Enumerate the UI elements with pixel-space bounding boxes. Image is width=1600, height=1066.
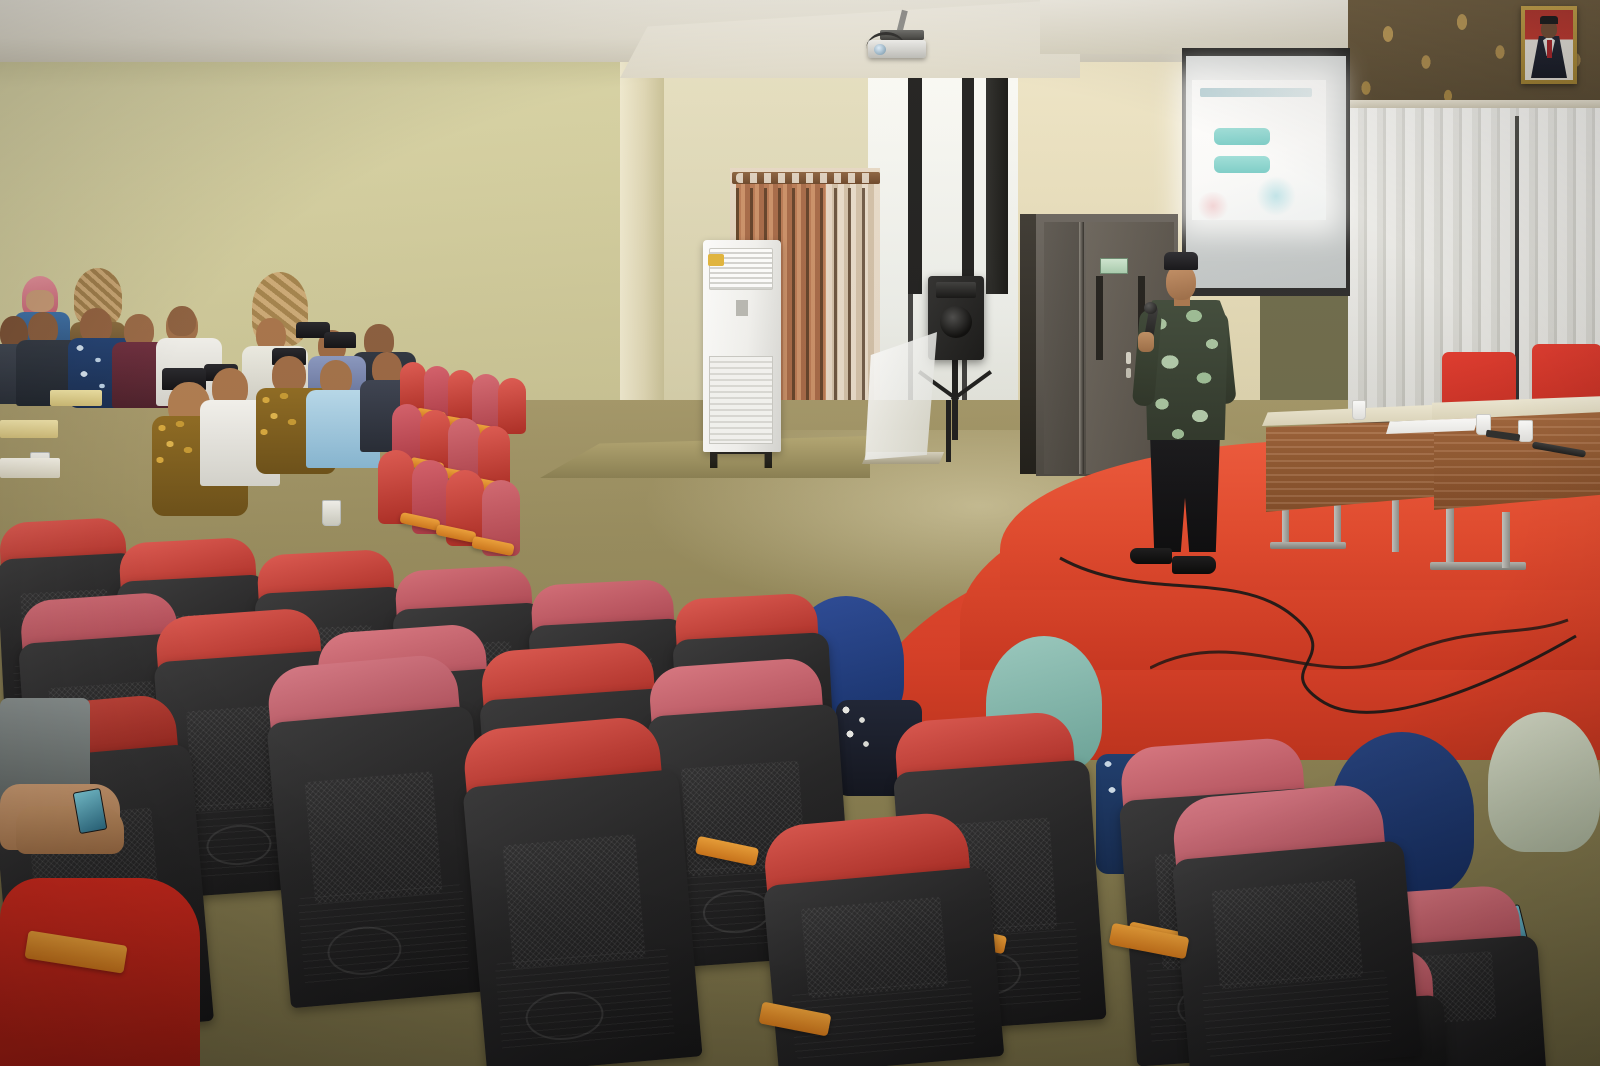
auditorium-photo: green exit sign [0, 0, 1600, 1066]
portrait-tie [1547, 40, 1552, 58]
slide-button-2 [1214, 156, 1270, 173]
seat-row3-s3[interactable] [457, 713, 702, 1066]
slide-button-2-label [1214, 156, 1270, 173]
microphone-head-icon [1144, 302, 1157, 314]
exit-sign-icon: green exit sign [1100, 258, 1128, 274]
exit-door-leaf-left[interactable] [1044, 222, 1082, 474]
table-foot-b [1430, 562, 1526, 570]
table-leg-b1 [1392, 500, 1399, 552]
ac-control-panel [736, 300, 748, 316]
audience-face-1 [26, 290, 54, 312]
presenter-shoe-left [1130, 548, 1172, 564]
audience-notebook-2 [50, 390, 102, 406]
door-vision-slot-left [1096, 276, 1103, 360]
table-foot-a [1270, 542, 1346, 549]
portrait-peci-icon [1540, 16, 1558, 24]
structural-pillar-3 [986, 56, 1008, 294]
audience-hijab-mint [1488, 712, 1600, 852]
table-cup-1 [1352, 400, 1366, 420]
audience-peci-2 [324, 332, 356, 348]
presenter-shoe-right [1172, 556, 1216, 574]
speaker-cone-icon [940, 306, 972, 338]
structural-pillar-1 [908, 44, 922, 294]
table-leg-b2 [1446, 508, 1454, 564]
audience-head-a8 [168, 306, 196, 336]
audience-notebook-1 [0, 458, 60, 478]
presenter-hand [1138, 332, 1154, 352]
floor-cable-secondary [1150, 598, 1570, 748]
speaker-tripod-leg-center [946, 400, 951, 462]
speaker-horn-icon [936, 282, 976, 298]
foreground-hand-right [16, 806, 124, 854]
table-leg-b3 [1502, 512, 1510, 568]
slide-graphic-pink [1196, 192, 1230, 220]
presenter-peci-icon [1164, 252, 1198, 270]
table-cup-3 [1518, 420, 1533, 442]
curtain-rings [736, 173, 876, 183]
audience-water-cup-2 [322, 500, 341, 526]
ac-label-tag [708, 254, 724, 266]
audience-notebook-3 [0, 420, 58, 438]
exit-door-edge [1079, 222, 1084, 474]
door-handle[interactable] [1126, 352, 1131, 364]
projector-lens-icon [874, 44, 886, 55]
seat-row3-s2[interactable] [262, 652, 497, 1009]
slide-title-bar [1200, 88, 1312, 97]
speaker-stand-pole [952, 358, 958, 440]
ac-bottom-grille-icon [709, 356, 773, 444]
seat-row-mid-far[interactable] [378, 450, 578, 580]
structural-pillar-2 [962, 44, 974, 294]
slide-graphic-teal [1256, 176, 1296, 216]
slide-button-1-label [1214, 128, 1270, 145]
slide-button-1 [1214, 128, 1270, 145]
foreground-seat-red-pad [0, 878, 200, 1066]
door-lock[interactable] [1126, 368, 1131, 378]
seat-row3-s5[interactable] [1166, 780, 1421, 1066]
